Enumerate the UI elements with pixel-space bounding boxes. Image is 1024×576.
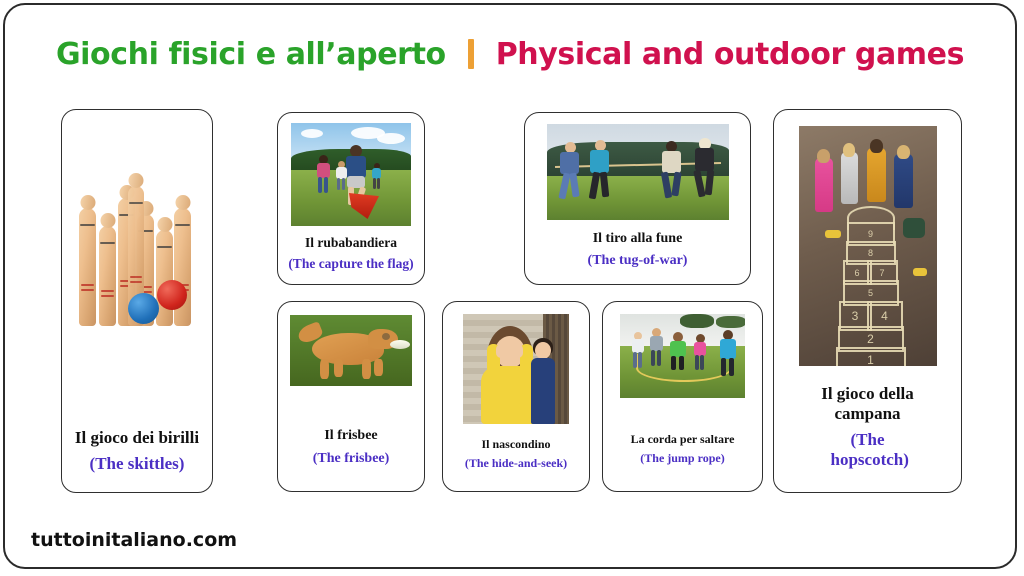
image-tug-of-war xyxy=(547,124,729,220)
card-skittles[interactable]: Il gioco dei birilli (The skittles) xyxy=(61,109,213,493)
title-italian: Giochi fisici e all’aperto xyxy=(56,37,446,72)
card-hide-and-seek[interactable]: Il nascondino (The hide-and-seek) xyxy=(442,301,590,492)
image-hide-and-seek xyxy=(463,314,569,424)
label-english: (The frisbee) xyxy=(313,451,390,468)
label-english: (The hide-and-seek) xyxy=(465,456,567,470)
label-english: (The capture the flag) xyxy=(288,256,413,272)
label-english: (The skittles) xyxy=(90,454,185,474)
image-capture-the-flag xyxy=(291,123,411,226)
label-italian: Il frisbee xyxy=(324,428,377,445)
image-hopscotch: 9 8 6 7 5 3 4 2 1 xyxy=(799,126,937,366)
image-skittles xyxy=(73,126,201,326)
chalk-number-1: 1 xyxy=(836,347,906,366)
footer-site-name: tuttoinitaliano.com xyxy=(31,529,237,551)
card-jump-rope[interactable]: La corda per saltare (The jump rope) xyxy=(602,301,763,492)
infographic-page: Giochi fisici e all’aperto Physical and … xyxy=(3,3,1017,569)
label-italian: Il nascondino xyxy=(481,437,550,451)
label-english: (The hopscotch) xyxy=(831,430,905,470)
card-tug-of-war[interactable]: Il tiro alla fune (The tug-of-war) xyxy=(524,112,751,285)
label-italian: Il gioco della campana xyxy=(808,384,928,424)
labels-tug-of-war: Il tiro alla fune (The tug-of-war) xyxy=(525,220,750,284)
card-capture-the-flag[interactable]: Il rubabandiera (The capture the flag) xyxy=(277,112,425,285)
card-hopscotch[interactable]: 9 8 6 7 5 3 4 2 1 xyxy=(773,109,962,493)
label-italian: Il gioco dei birilli xyxy=(75,428,199,448)
label-italian: Il rubabandiera xyxy=(305,235,397,251)
page-header: Giochi fisici e all’aperto Physical and … xyxy=(5,29,1015,79)
card-frisbee[interactable]: Il frisbee (The frisbee) xyxy=(277,301,425,492)
label-english: (The tug-of-war) xyxy=(588,253,688,270)
label-english: (The jump rope) xyxy=(640,451,724,465)
title-divider-icon xyxy=(468,39,474,69)
labels-hide-and-seek: Il nascondino (The hide-and-seek) xyxy=(443,424,589,491)
labels-jump-rope: La corda per saltare (The jump rope) xyxy=(603,398,762,491)
image-frisbee xyxy=(290,315,412,386)
labels-frisbee: Il frisbee (The frisbee) xyxy=(278,386,424,491)
image-jump-rope xyxy=(620,314,745,398)
label-italian: Il tiro alla fune xyxy=(593,231,683,248)
label-italian: La corda per saltare xyxy=(631,432,735,446)
labels-skittles: Il gioco dei birilli (The skittles) xyxy=(62,326,212,492)
labels-capture-the-flag: Il rubabandiera (The capture the flag) xyxy=(278,226,424,284)
labels-hopscotch: Il gioco della campana (The hopscotch) xyxy=(774,366,961,492)
title-english: Physical and outdoor games xyxy=(496,37,964,72)
